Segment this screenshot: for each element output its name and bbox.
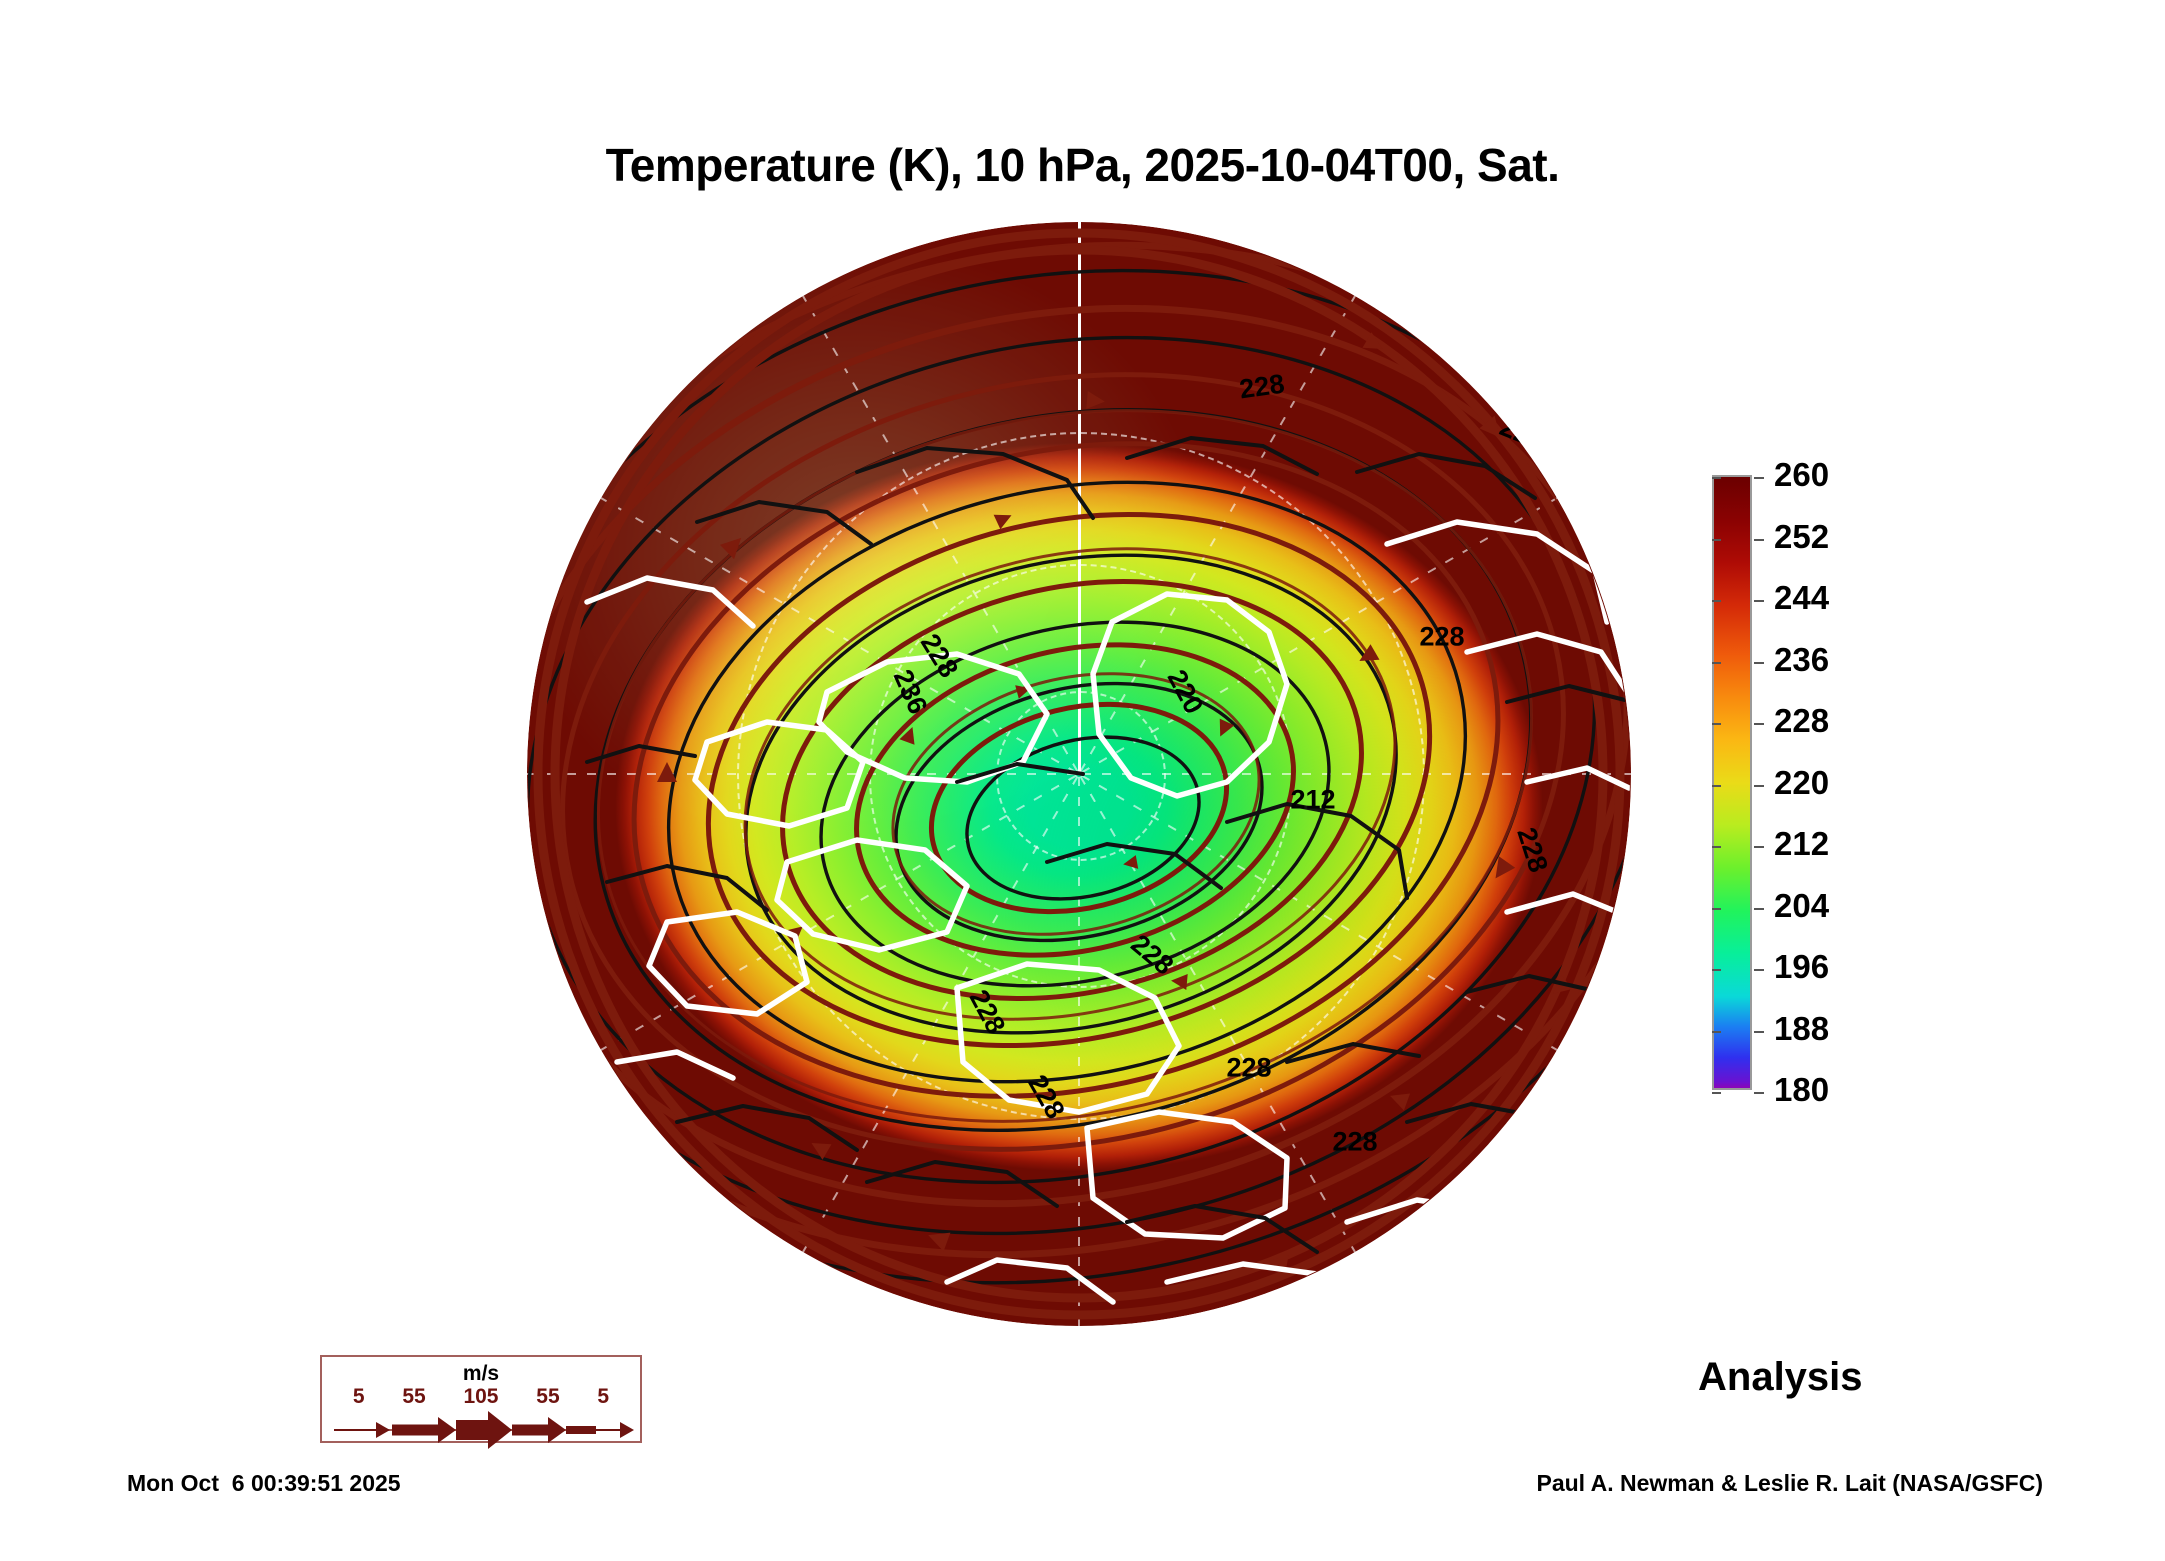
colorbar-tick-inner — [1712, 785, 1721, 787]
contour-label: 228 — [1332, 1127, 1377, 1158]
colorbar-tick-label: 252 — [1774, 518, 1829, 556]
wind-legend-value: 5 — [597, 1385, 609, 1409]
colorbar-tick-label: 204 — [1774, 887, 1829, 925]
contour-label: 212 — [1290, 785, 1335, 816]
colorbar-tick — [1754, 539, 1764, 541]
colorbar-tick — [1754, 1092, 1764, 1094]
colorbar-tick-inner — [1712, 969, 1721, 971]
colorbar-tick-label: 212 — [1774, 825, 1829, 863]
colorbar-fill — [1714, 477, 1750, 1088]
colorbar-tick-inner — [1712, 1031, 1721, 1033]
wind-legend-value: 55 — [536, 1385, 559, 1409]
colorbar-tick — [1754, 908, 1764, 910]
colorbar-tick-label: 196 — [1774, 948, 1829, 986]
colorbar: 260252244236228220212204196188180 — [1712, 475, 2042, 1095]
colorbar-tick-inner — [1712, 723, 1721, 725]
colorbar-tick-inner — [1712, 908, 1721, 910]
colorbar-tick-label: 188 — [1774, 1010, 1829, 1048]
generation-timestamp: Mon Oct 6 00:39:51 2025 — [127, 1470, 401, 1497]
wind-legend-value: 105 — [463, 1385, 498, 1409]
page-title: Temperature (K), 10 hPa, 2025-10-04T00, … — [0, 138, 2165, 192]
wind-legend-value: 55 — [402, 1385, 425, 1409]
coastline-overlay — [527, 222, 1631, 1326]
colorbar-tick — [1754, 785, 1764, 787]
colorbar-tick — [1754, 662, 1764, 664]
colorbar-tick-label: 236 — [1774, 641, 1829, 679]
colorbar-tick — [1754, 969, 1764, 971]
wind-arrowheads — [657, 332, 1573, 1273]
polar-map: 228228228228228228228228228228236220212 — [527, 222, 1631, 1326]
colorbar-tick — [1754, 1031, 1764, 1033]
coastlines-white — [587, 522, 1629, 1308]
colorbar-tick-label: 220 — [1774, 764, 1829, 802]
author-credit: Paul A. Newman & Leslie R. Lait (NASA/GS… — [1536, 1470, 2043, 1497]
colorbar-tick-inner — [1712, 662, 1721, 664]
colorbar-tick-inner — [1712, 1092, 1721, 1094]
contour-label: 228 — [1238, 369, 1287, 406]
colorbar-tick — [1754, 723, 1764, 725]
colorbar-tick-label: 228 — [1774, 702, 1829, 740]
colorbar-tick-label: 244 — [1774, 579, 1829, 617]
wind-speed-legend: m/s 555105555 — [320, 1355, 642, 1443]
wind-legend-values: 555105555 — [322, 1385, 640, 1409]
contour-label: 228 — [1226, 1053, 1271, 1084]
wind-legend-unit: m/s — [322, 1362, 640, 1386]
colorbar-tick — [1754, 477, 1764, 479]
colorbar-tick — [1754, 600, 1764, 602]
globe-disc: 228228228228228228228228228228236220212 — [527, 222, 1631, 1326]
contour-label: 228 — [1419, 622, 1464, 653]
colorbar-tick-label: 180 — [1774, 1071, 1829, 1109]
analysis-label: Analysis — [1698, 1355, 1863, 1400]
colorbar-gradient — [1712, 475, 1752, 1090]
colorbar-tick-inner — [1712, 539, 1721, 541]
wind-legend-arrow — [334, 1419, 628, 1441]
wind-legend-value: 5 — [353, 1385, 365, 1409]
colorbar-tick-inner — [1712, 846, 1721, 848]
colorbar-tick-label: 260 — [1774, 456, 1829, 494]
colorbar-tick-inner — [1712, 600, 1721, 602]
colorbar-tick — [1754, 846, 1764, 848]
colorbar-tick-inner — [1712, 477, 1721, 479]
